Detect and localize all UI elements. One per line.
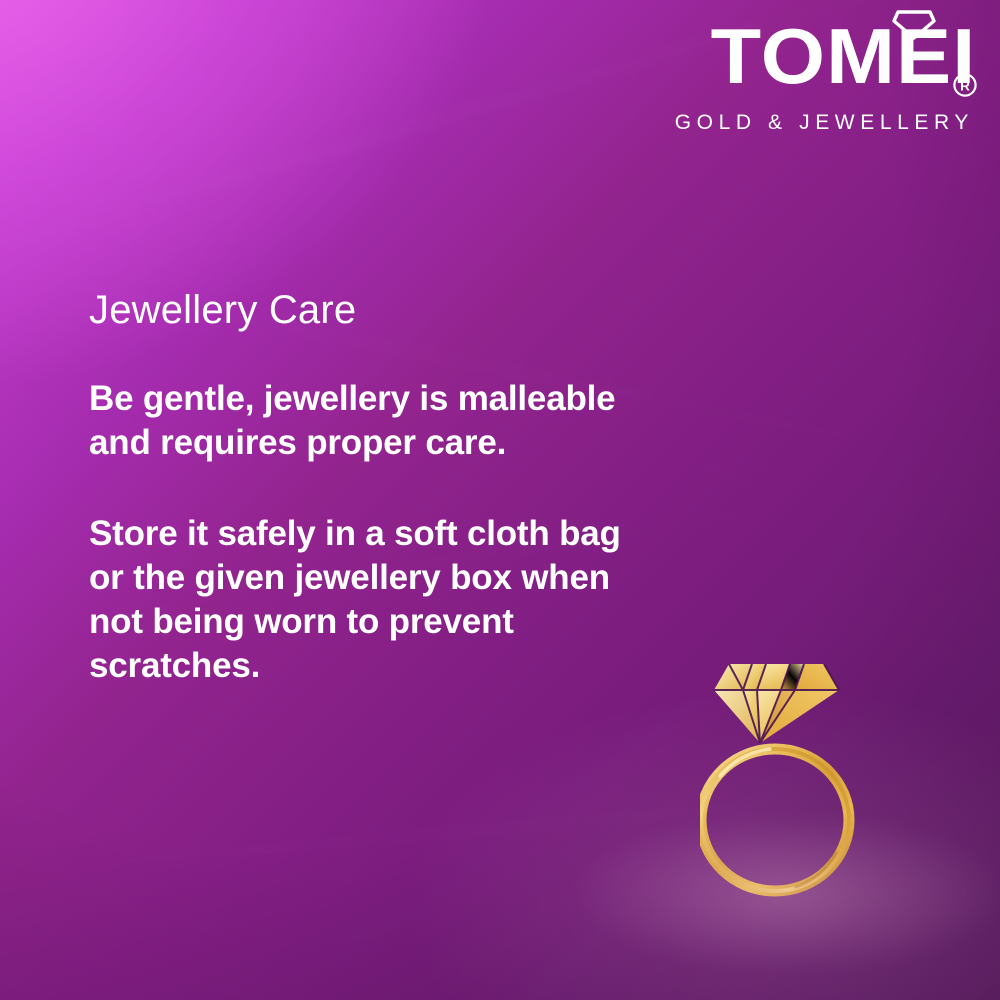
ring-vector	[700, 648, 880, 908]
jewellery-care-poster: TOMEI R GOLD & JEWELLERY Jewellery Care …	[0, 0, 1000, 1000]
diamond-outline-icon	[892, 10, 936, 40]
logo-wordmark-row: TOMEI R	[675, 8, 976, 104]
care-paragraph-2: Store it safely in a soft cloth bag or t…	[89, 512, 634, 688]
gold-diamond-ring-illustration	[700, 648, 880, 908]
registered-trademark-icon: R	[952, 72, 978, 98]
svg-text:R: R	[960, 78, 970, 93]
care-paragraph-1: Be gentle, jewellery is malleable and re…	[89, 377, 634, 465]
care-copy-block: Jewellery Care Be gentle, jewellery is m…	[89, 287, 669, 689]
diamond-gem-icon	[714, 664, 839, 743]
tomei-logo: TOMEI R GOLD & JEWELLERY	[675, 8, 976, 133]
brand-tagline: GOLD & JEWELLERY	[675, 112, 974, 133]
page-title: Jewellery Care	[89, 287, 669, 333]
ring-band-icon	[701, 749, 849, 891]
